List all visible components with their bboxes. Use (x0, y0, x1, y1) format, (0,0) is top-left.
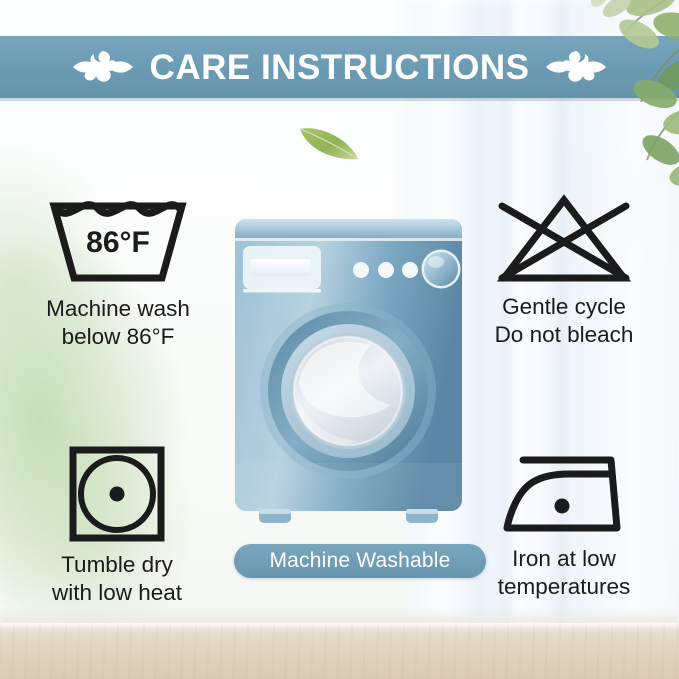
fleur-de-lis-icon-right (545, 47, 607, 87)
machine-washable-badge: Machine Washable (234, 544, 486, 578)
header-banner: CARE INSTRUCTIONS (0, 36, 679, 98)
triangle-crossed-icon (456, 192, 672, 286)
fleur-de-lis-icon (72, 47, 134, 87)
page-title: CARE INSTRUCTIONS (150, 50, 530, 85)
washing-machine-illustration (231, 213, 466, 535)
iron-icon (456, 448, 672, 538)
care-instructions-graphic: CARE INSTRUCTIONS (0, 0, 679, 679)
care-symbol-caption: Iron at low temperatures (456, 545, 672, 600)
care-symbol-gentle-cycle-no-bleach: Gentle cycle Do not bleach (456, 192, 672, 348)
care-symbol-machine-wash: 86°F Machine wash below 86°F (12, 196, 224, 350)
wash-temperature-value: 86°F (86, 226, 150, 259)
tumble-dry-icon (10, 444, 224, 544)
wood-grain-texture (0, 623, 679, 679)
floating-leaf-icon (296, 121, 362, 165)
care-symbol-caption: Tumble dry with low heat (10, 551, 224, 606)
care-symbol-caption: Machine wash below 86°F (12, 295, 224, 350)
care-symbol-caption: Gentle cycle Do not bleach (456, 293, 672, 348)
wash-tub-icon: 86°F (12, 196, 224, 288)
wood-table-surface (0, 623, 679, 679)
table-edge-highlight (0, 609, 679, 623)
care-symbol-iron: Iron at low temperatures (456, 448, 672, 600)
badge-label: Machine Washable (269, 549, 450, 573)
care-symbol-tumble-dry: Tumble dry with low heat (10, 444, 224, 606)
